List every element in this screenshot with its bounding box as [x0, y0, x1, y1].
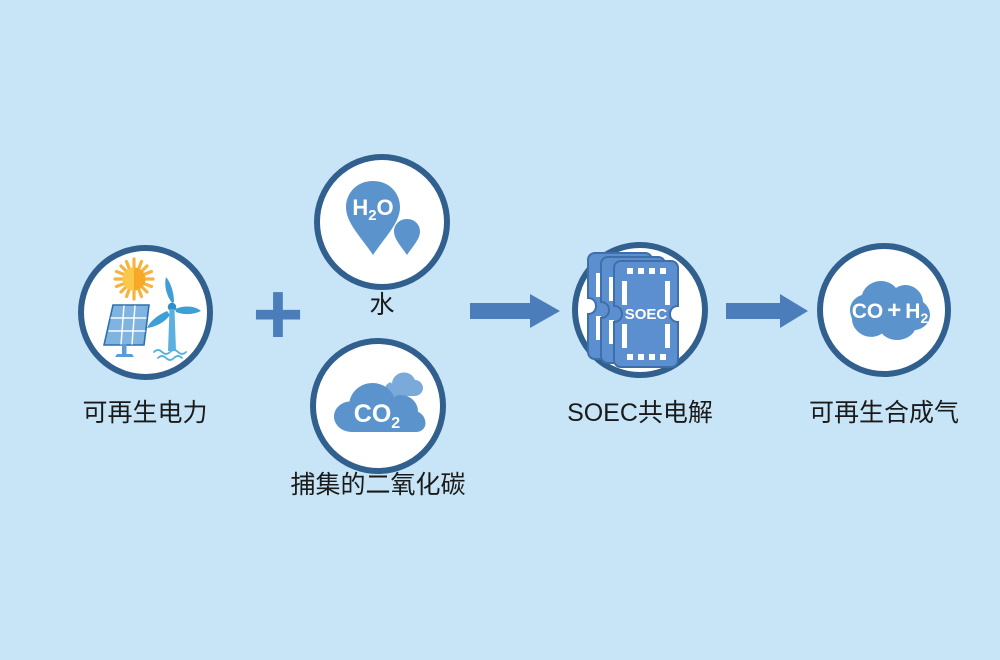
water-waves-icon	[154, 350, 186, 360]
soec-stack-label: SOEC	[625, 306, 668, 323]
node-water[interactable]: H2O	[314, 154, 450, 290]
node-syngas[interactable]: CO+H2	[817, 243, 951, 377]
renewable-power-icon-group	[86, 253, 206, 373]
wind-turbine-icon	[147, 277, 201, 351]
sun-icon	[115, 259, 153, 299]
caption-soec: SOEC共电解	[545, 398, 735, 428]
plus-operator: +	[248, 270, 308, 358]
arrow-2-wrap	[724, 292, 810, 330]
soec-circle: SOEC	[572, 242, 708, 378]
caption-renewable-power: 可再生电力	[40, 398, 250, 428]
arrow-1-wrap	[468, 292, 562, 330]
process-diagram: 可再生电力 + H2O 水 CO2 捕集的二氧化碳	[0, 0, 1000, 660]
solar-panel-icon	[104, 305, 149, 357]
water-icon-group: H2O	[327, 167, 437, 277]
co2-icon-group: CO2	[322, 350, 434, 462]
renewable-power-circle	[78, 245, 213, 380]
node-renewable-power[interactable]	[78, 245, 213, 380]
syngas-formula: CO+H2	[852, 297, 929, 326]
caption-captured-co2: 捕集的二氧化碳	[278, 470, 478, 500]
caption-water: 水	[322, 290, 442, 320]
node-soec[interactable]: SOEC	[572, 242, 708, 378]
water-droplet-small-icon	[394, 219, 420, 255]
arrow-right-icon	[724, 292, 810, 330]
gas-cloud-icon: CO+H2	[826, 260, 942, 360]
captured-co2-circle: CO2	[310, 338, 446, 474]
caption-syngas: 可再生合成气	[789, 398, 979, 428]
node-captured-co2[interactable]: CO2	[310, 338, 446, 474]
arrow-right-icon	[468, 292, 562, 330]
syngas-circle: CO+H2	[817, 243, 951, 377]
water-circle: H2O	[314, 154, 450, 290]
soec-stack-icon: SOEC	[584, 252, 696, 368]
